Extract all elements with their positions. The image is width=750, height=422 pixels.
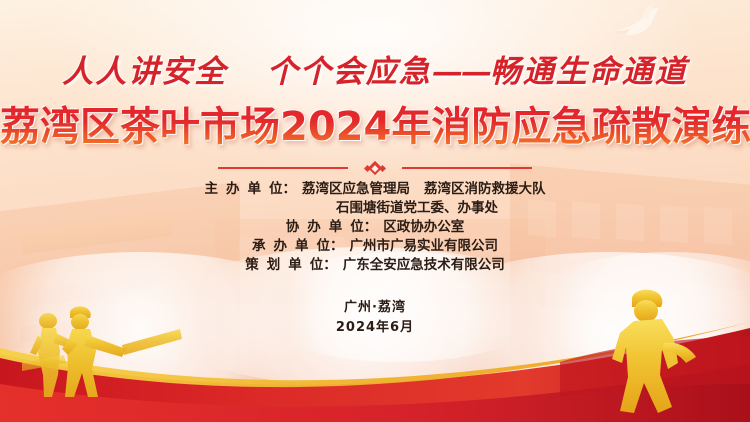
organizer-row-host: 主办单位： 荔湾区应急管理局 荔湾区消防救援大队 [205,180,546,199]
divider-line-right [402,167,532,169]
organizer-value-2: 荔湾区消防救援大队 [424,180,546,199]
footer-date: 2024年6月 [0,318,750,338]
footer-block: 广州·荔湾 2024年6月 [0,298,750,338]
organizer-label: 承办单位 [252,237,330,256]
footer-location: 广州·荔湾 [0,298,750,318]
page-title: 荔湾区茶叶市场2024年消防应急疏散演练 [0,103,750,151]
organizer-colon: ： [323,256,337,275]
dove-icon [612,4,672,38]
organizer-label: 协办单位 [286,218,364,237]
organizer-label: 策划单位 [245,256,323,275]
organizer-colon: ： [330,237,344,256]
slogan-dash: —— [432,54,490,90]
organizer-row-coorganizer: 协办单位： 区政协办公室 [286,218,465,237]
organizer-value: 广东全安应急技术有限公司 [337,256,505,275]
organizer-label: 主办单位 [205,180,283,199]
organizer-row-undertaker: 承办单位： 广州市广易实业有限公司 [252,237,498,256]
organizer-colon: ： [364,218,378,237]
divider [0,160,750,176]
organizer-list: 主办单位： 荔湾区应急管理局 荔湾区消防救援大队 石围塘街道党工委、办事处 协办… [0,180,750,275]
poster-canvas: 人人讲安全 个个会应急——畅通生命通道 荔湾区茶叶市场2024年消防应急疏散演练… [0,0,750,422]
organizer-value: 荔湾区应急管理局 [296,180,410,199]
organizer-row-planner: 策划单位： 广东全安应急技术有限公司 [245,256,505,275]
slogan-part-1: 人人讲安全 [62,54,227,90]
diamond-ornament-icon [358,162,392,174]
slogan-part-3: 畅通生命通道 [490,54,688,90]
organizer-value: 广州市广易实业有限公司 [344,237,499,256]
organizer-colon: ： [283,180,297,199]
slogan-line: 人人讲安全 个个会应急——畅通生命通道 [0,48,750,96]
organizer-value: 区政协办公室 [377,218,464,237]
organizer-continuation: 石围塘街道党工委、办事处 [252,199,498,218]
slogan-part-2: 个个会应急 [267,54,432,90]
divider-line-left [218,167,348,169]
organizer-row-host-continued: 石围塘街道党工委、办事处 [252,199,498,218]
